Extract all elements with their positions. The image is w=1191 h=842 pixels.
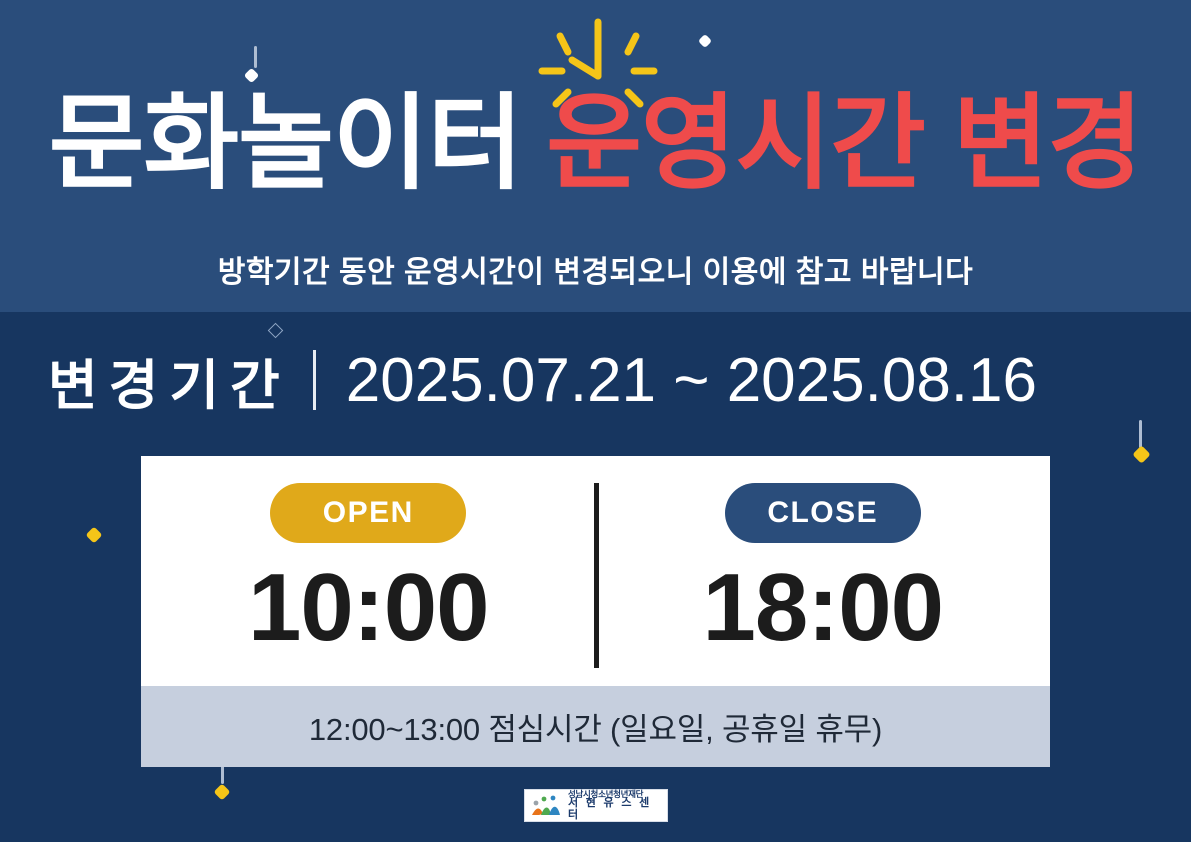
open-column: OPEN 10:00 xyxy=(141,456,596,686)
diamond-sparkle-icon xyxy=(270,325,281,336)
poster-subtitle: 방학기간 동안 운영시간이 변경되오니 이용에 참고 바랍니다 xyxy=(0,247,1191,291)
hours-card-main: OPEN 10:00 CLOSE 18:00 xyxy=(141,456,1050,686)
change-period-row: 변경기간 2025.07.21 ~ 2025.08.16 xyxy=(48,344,1148,416)
tick-mark-icon xyxy=(1139,420,1142,448)
title-part-red: 운영시간 변경 xyxy=(546,86,1142,202)
lunch-break-note: 12:00~13:00 점심시간 (일요일, 공휴일 휴무) xyxy=(141,686,1050,767)
tick-mark-icon xyxy=(254,46,257,68)
close-time-value: 18:00 xyxy=(702,555,943,661)
title-part-white: 문화놀이터 xyxy=(49,86,522,202)
poster-canvas: 문화놀이터운영시간 변경 방학기간 동안 운영시간이 변경되오니 이용에 참고 … xyxy=(0,0,1191,842)
period-divider xyxy=(313,350,316,410)
diamond-sparkle-icon xyxy=(88,529,100,541)
open-time-value: 10:00 xyxy=(248,555,489,661)
youth-center-logo-mark xyxy=(530,794,564,818)
open-badge: OPEN xyxy=(270,483,466,543)
close-column: CLOSE 18:00 xyxy=(596,456,1051,686)
organization-logo: 성남시청소년청년재단 서 현 유 스 센 터 xyxy=(524,789,668,822)
diamond-sparkle-icon xyxy=(1135,448,1148,461)
diamond-sparkle-icon xyxy=(700,36,710,46)
close-badge: CLOSE xyxy=(725,483,921,543)
period-label: 변경기간 xyxy=(48,341,299,420)
logo-center-name: 서 현 유 스 센 터 xyxy=(568,798,667,821)
logo-text-block: 성남시청소년청년재단 서 현 유 스 센 터 xyxy=(568,790,667,822)
diamond-sparkle-icon xyxy=(246,70,257,81)
card-vertical-divider xyxy=(594,483,599,668)
diamond-sparkle-icon xyxy=(216,786,228,798)
operating-hours-card: OPEN 10:00 CLOSE 18:00 12:00~13:00 점심시간 … xyxy=(141,456,1050,767)
period-dates: 2025.07.21 ~ 2025.08.16 xyxy=(346,345,1037,416)
poster-title: 문화놀이터운영시간 변경 xyxy=(0,92,1191,196)
